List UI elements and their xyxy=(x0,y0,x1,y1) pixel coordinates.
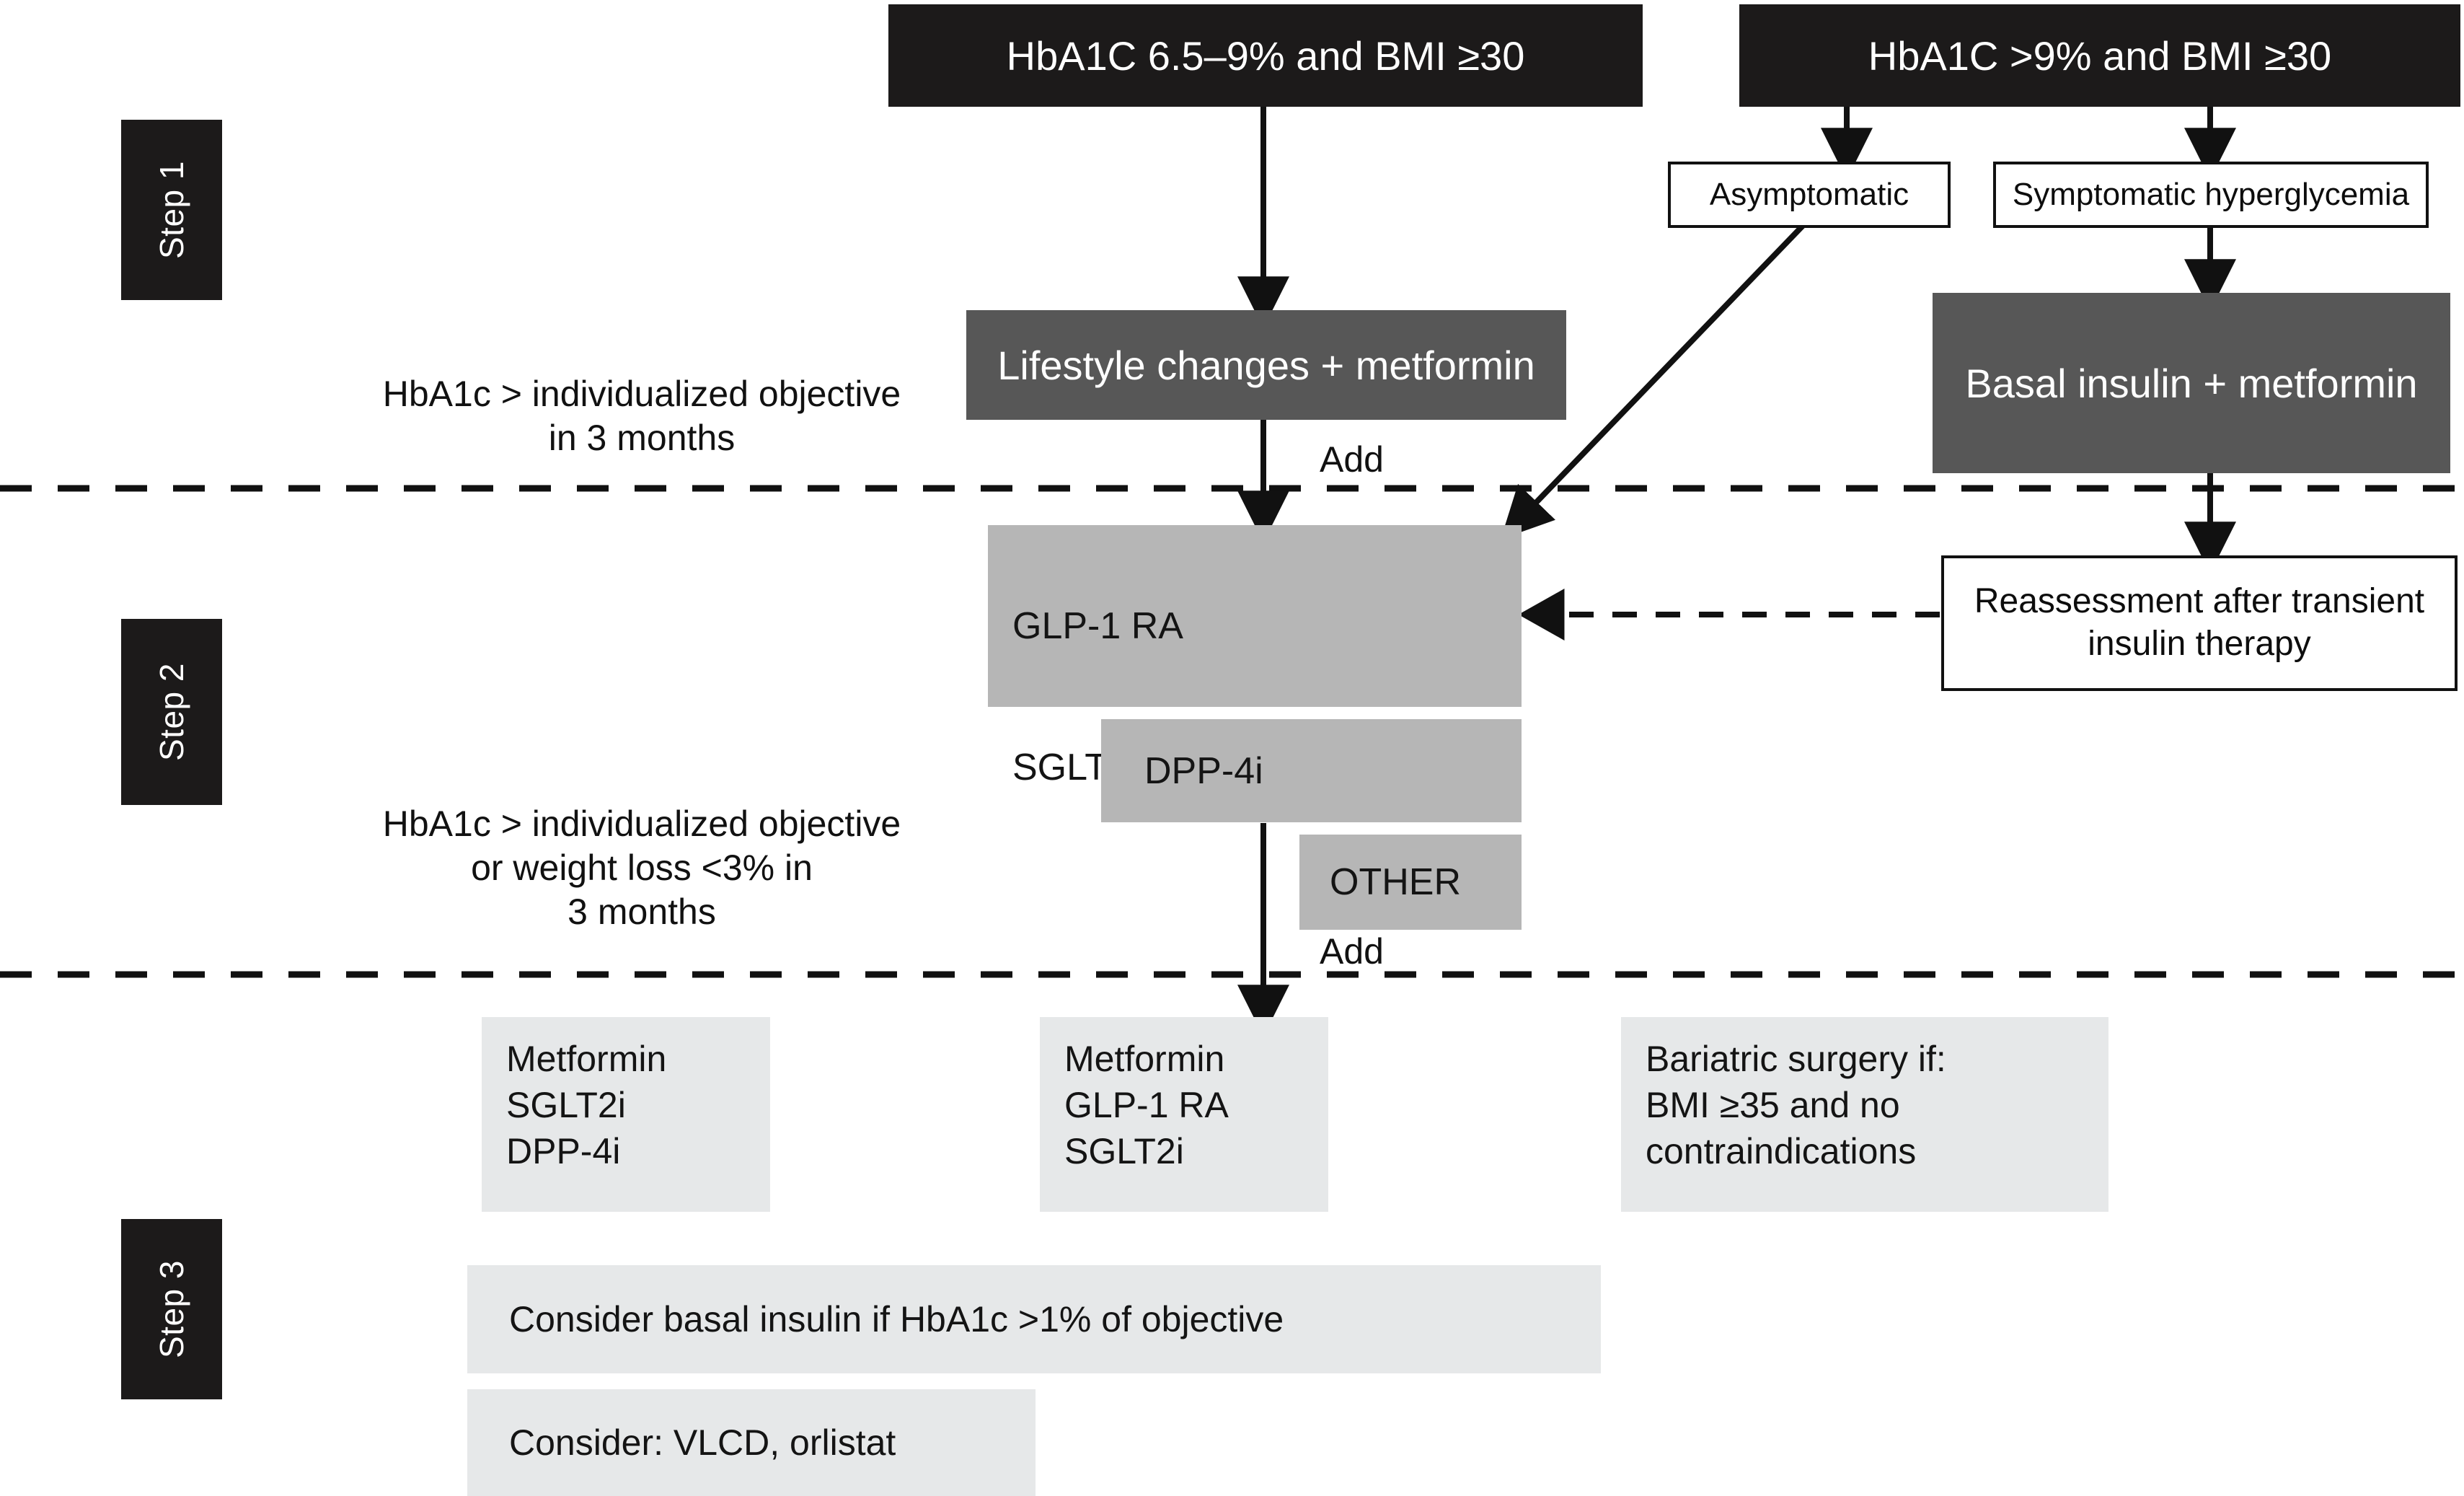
step-tab-step-3: Step 3 xyxy=(121,1219,222,1399)
triage-box-symptomatic-label: Symptomatic hyperglycemia xyxy=(2013,177,2409,213)
entry-box-left-label: HbA1C 6.5–9% and BMI ≥30 xyxy=(1007,32,1525,79)
step3-basal-insulin-box: Consider basal insulin if HbA1c >1% of o… xyxy=(467,1265,1601,1373)
reassessment-label: Reassessment after transient insulin the… xyxy=(1974,581,2424,665)
glp1-sglt2i-box: GLP-1 RA SGLT2i xyxy=(988,525,1522,707)
lifestyle-changes-metformin-label: Lifestyle changes + metformin xyxy=(997,342,1535,389)
step3-vlcd-orlistat-box: Consider: VLCD, orlistat xyxy=(467,1389,1036,1496)
step-tab-step-1: Step 1 xyxy=(121,120,222,300)
step3-bariatric-surgery-box: Bariatric surgery if: BMI ≥35 and no con… xyxy=(1621,1017,2108,1212)
basal-insulin-metformin-box: Basal insulin + metformin xyxy=(1933,293,2450,473)
triage-box-asymptomatic-label: Asymptomatic xyxy=(1710,177,1909,213)
step2-add-label: Add xyxy=(1320,930,1384,972)
triage-box-symptomatic: Symptomatic hyperglycemia xyxy=(1993,162,2429,228)
step3-left-box: Metformin SGLT2i DPP-4i xyxy=(482,1017,770,1212)
step-tab-label: Step 2 xyxy=(152,663,191,761)
step1-add-label: Add xyxy=(1320,439,1384,480)
lifestyle-changes-metformin-box: Lifestyle changes + metformin xyxy=(966,310,1566,420)
step3-left-label: Metformin SGLT2i DPP-4i xyxy=(506,1036,666,1174)
step2-failure-caption: HbA1c > individualized objective or weig… xyxy=(332,802,952,934)
triage-box-asymptomatic: Asymptomatic xyxy=(1668,162,1951,228)
step-tab-label: Step 3 xyxy=(152,1260,191,1358)
entry-box-right-label: HbA1C >9% and BMI ≥30 xyxy=(1868,32,2331,79)
step3-bariatric-surgery-label: Bariatric surgery if: BMI ≥35 and no con… xyxy=(1646,1036,1946,1174)
glp1-ra-label: GLP-1 RA xyxy=(1012,589,1522,645)
step3-center-box: Metformin GLP-1 RA SGLT2i xyxy=(1040,1017,1328,1212)
step3-vlcd-orlistat-label: Consider: VLCD, orlistat xyxy=(509,1420,896,1466)
entry-box-left: HbA1C 6.5–9% and BMI ≥30 xyxy=(888,4,1643,107)
other-therapy-label: OTHER xyxy=(1330,861,1461,904)
reassessment-box: Reassessment after transient insulin the… xyxy=(1941,555,2458,691)
basal-insulin-metformin-label: Basal insulin + metformin xyxy=(1965,360,2417,407)
step-tab-step-2: Step 2 xyxy=(121,619,222,805)
dpp4i-label: DPP-4i xyxy=(1144,749,1263,793)
step1-failure-caption: HbA1c > individualized objective in 3 mo… xyxy=(339,372,945,460)
entry-box-right: HbA1C >9% and BMI ≥30 xyxy=(1739,4,2460,107)
dpp4i-box: DPP-4i xyxy=(1101,719,1522,822)
step3-center-label: Metformin GLP-1 RA SGLT2i xyxy=(1064,1036,1229,1174)
diagram-canvas: Step 1 Step 2 Step 3 HbA1C 6.5–9% and BM… xyxy=(0,0,2464,1496)
other-therapy-box: OTHER xyxy=(1299,835,1522,930)
step-tab-label: Step 1 xyxy=(152,161,191,259)
step3-basal-insulin-label: Consider basal insulin if HbA1c >1% of o… xyxy=(509,1296,1284,1342)
